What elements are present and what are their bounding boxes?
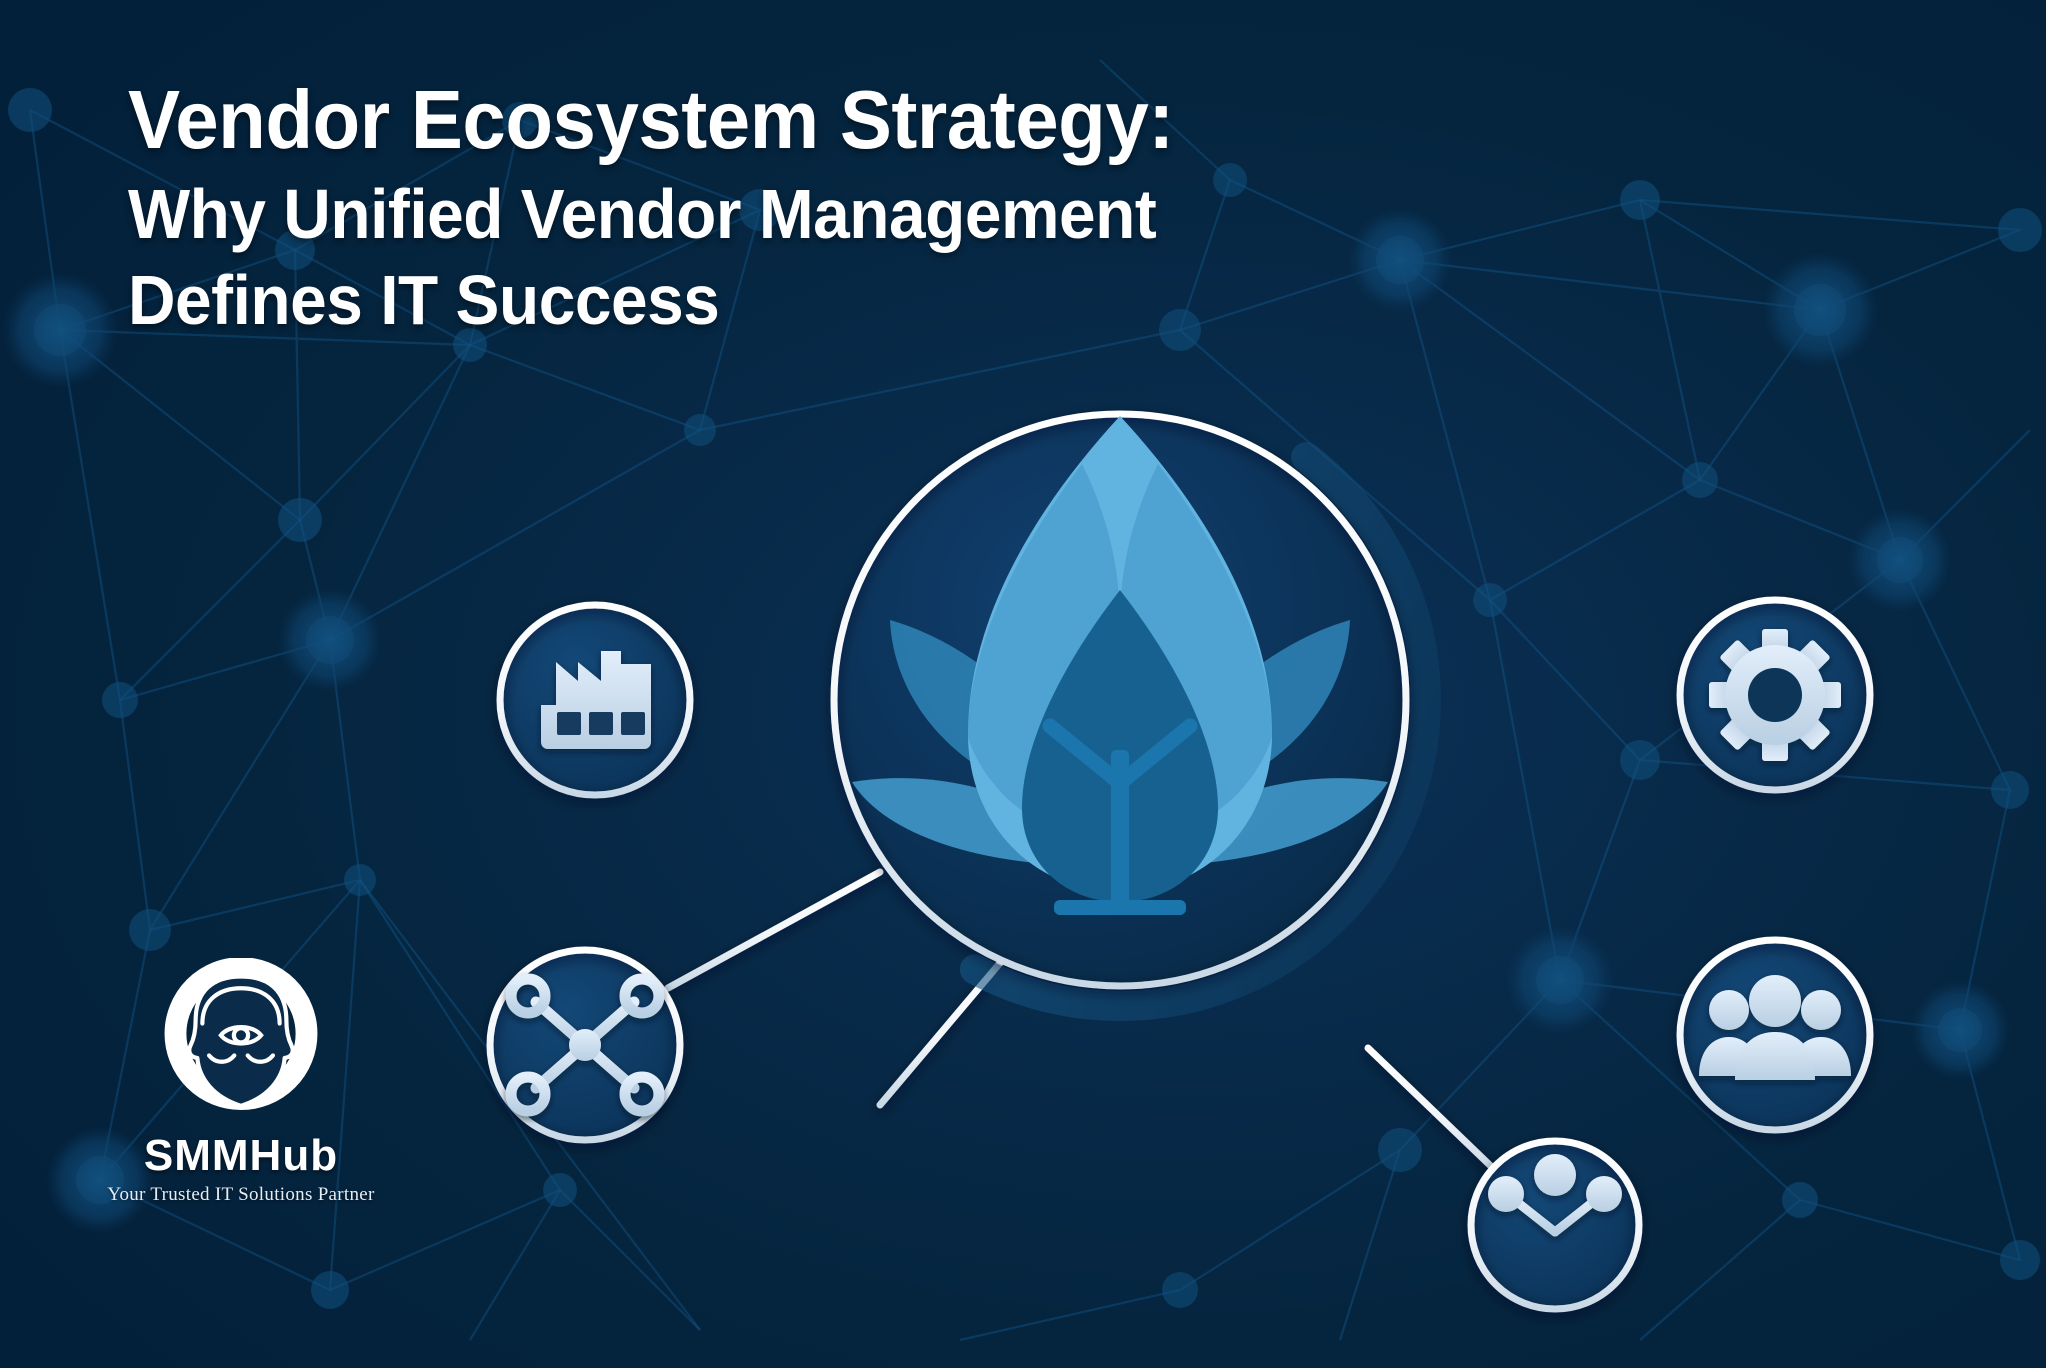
brand-tagline: Your Trusted IT Solutions Partner bbox=[96, 1183, 386, 1207]
brand-logo[interactable]: SMMHub Your Trusted IT Solutions Partner bbox=[96, 958, 386, 1207]
brand-name: SMMHub bbox=[96, 1132, 386, 1180]
page-title: Vendor Ecosystem Strategy: Why Unified V… bbox=[128, 72, 1458, 343]
poster-canvas: Vendor Ecosystem Strategy: Why Unified V… bbox=[0, 0, 2046, 1368]
node-network[interactable] bbox=[490, 950, 680, 1140]
connector-network bbox=[668, 872, 880, 988]
headline-line-3: Defines IT Success bbox=[128, 257, 1378, 343]
node-people[interactable] bbox=[1680, 940, 1870, 1130]
node-branch[interactable] bbox=[1471, 1141, 1639, 1309]
node-gear[interactable] bbox=[1680, 600, 1870, 790]
connector-branch bbox=[1368, 1048, 1497, 1172]
node-factory[interactable] bbox=[500, 605, 690, 795]
gear-icon bbox=[1709, 629, 1841, 761]
central-hub[interactable] bbox=[716, 296, 1524, 1104]
headline-line-2: Why Unified Vendor Management bbox=[128, 171, 1378, 257]
headline-line-1: Vendor Ecosystem Strategy: bbox=[128, 72, 1378, 167]
head-with-third-eye-icon bbox=[157, 958, 325, 1126]
